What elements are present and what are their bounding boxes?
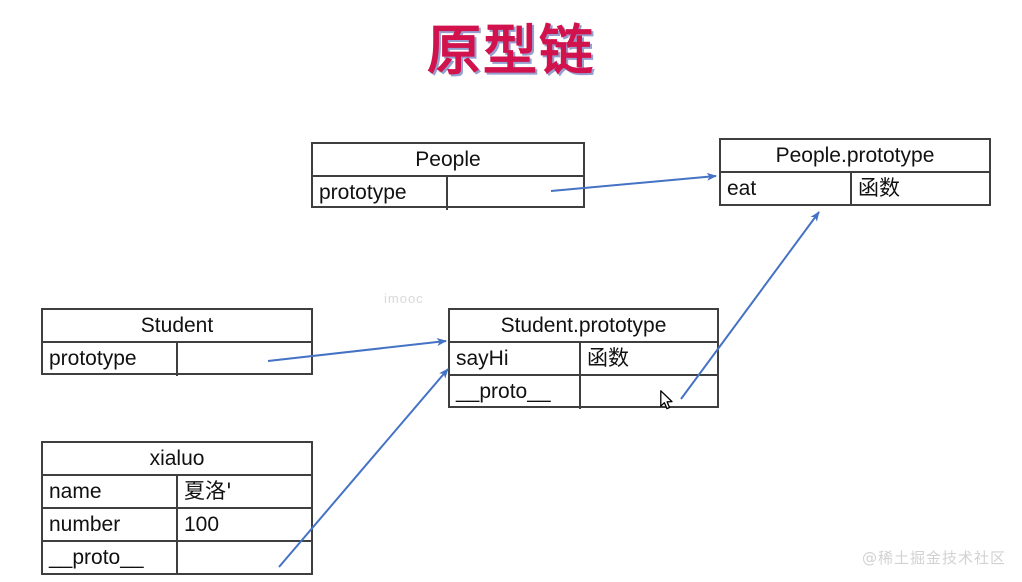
table-student-prototype-key-proto: __proto__ [450,376,581,409]
table-people-prototype-key-eat: eat [721,173,852,206]
table-people-prototype-value-eat: 函数 [852,173,989,206]
table-student-prototype-value-sayhi: 函数 [581,343,717,374]
table-xialuo-value-name: 夏洛' [178,476,311,507]
table-xialuo-header-row: xialuo [43,443,311,476]
table-row: eat 函数 [721,173,989,206]
table-student-prototype-header-row: Student.prototype [450,310,717,343]
table-row: number 100 [43,509,311,542]
table-xialuo-value-proto[interactable] [178,542,311,575]
table-row: name 夏洛' [43,476,311,509]
table-student-key-prototype: prototype [43,343,178,376]
watermark-juejin: @稀土掘金技术社区 [862,547,1006,568]
table-student-value-prototype[interactable] [178,343,311,376]
table-xialuo-header: xialuo [43,443,311,474]
table-people-prototype-header-row: People.prototype [721,140,989,173]
table-student-prototype-value-proto[interactable] [581,376,717,409]
watermark-imooc: imooc [384,291,424,306]
table-student-header-row: Student [43,310,311,343]
mouse-cursor-icon [660,390,674,410]
table-row: sayHi 函数 [450,343,717,376]
table-student-header: Student [43,310,311,341]
table-student: Student prototype [41,308,313,375]
table-people-header: People [313,144,583,175]
table-xialuo-key-number: number [43,509,178,540]
table-student-prototype-header: Student.prototype [450,310,717,341]
table-student-prototype: Student.prototype sayHi 函数 __proto__ [448,308,719,408]
table-people-header-row: People [313,144,583,177]
table-row: __proto__ [450,376,717,409]
table-row: prototype [313,177,583,210]
table-row: prototype [43,343,311,376]
table-student-prototype-key-sayhi: sayHi [450,343,581,374]
table-xialuo-key-proto: __proto__ [43,542,178,575]
table-people-prototype-header: People.prototype [721,140,989,171]
table-people-value-prototype[interactable] [448,177,583,210]
page-title: 原型链 [0,24,1022,78]
table-row: __proto__ [43,542,311,575]
table-xialuo-key-name: name [43,476,178,507]
diagram-canvas: 原型链 People prototype People.prototype ea… [0,0,1022,582]
table-xialuo: xialuo name 夏洛' number 100 __proto__ [41,441,313,575]
table-people: People prototype [311,142,585,208]
table-people-prototype: People.prototype eat 函数 [719,138,991,206]
table-xialuo-value-number: 100 [178,509,311,540]
table-people-key-prototype: prototype [313,177,448,210]
